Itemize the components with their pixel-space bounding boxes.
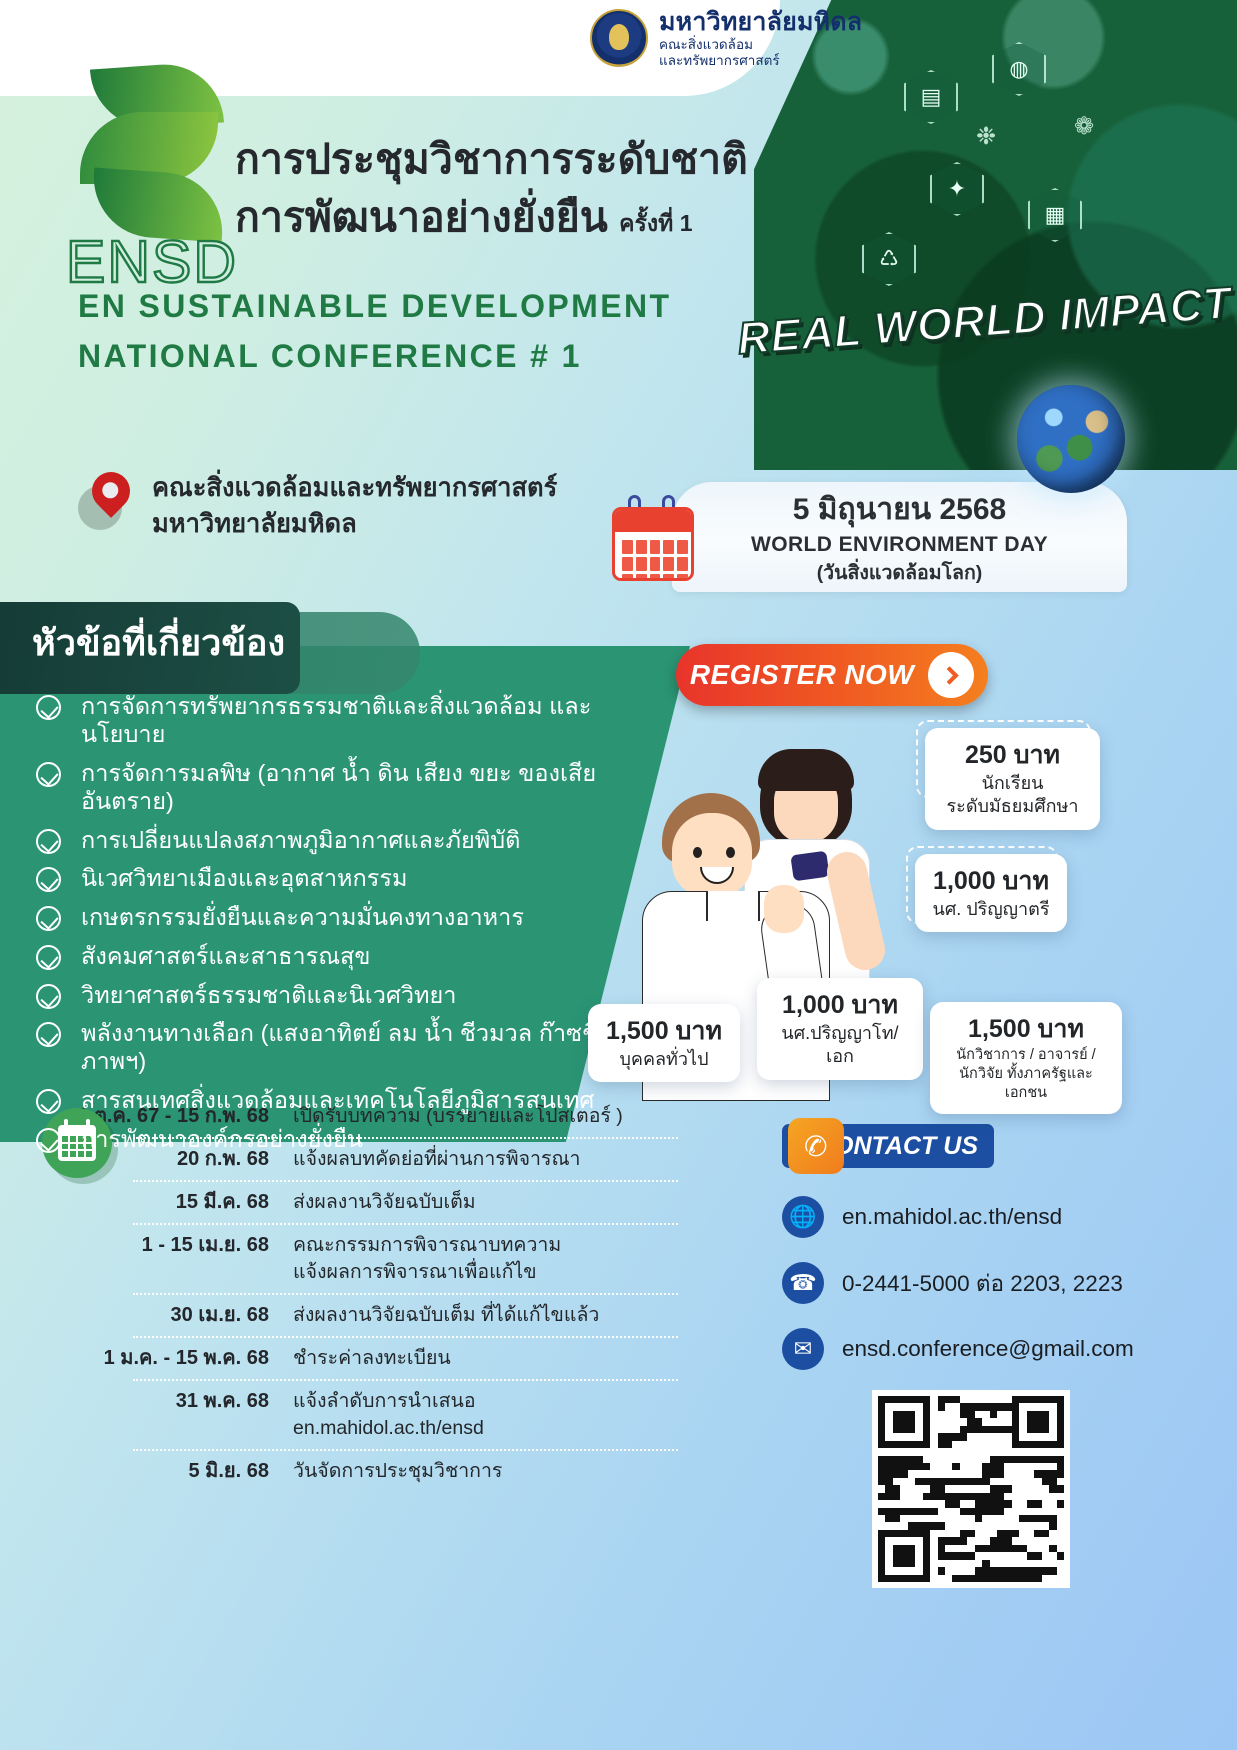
man-hand xyxy=(764,885,804,933)
timeline-separator xyxy=(133,1180,678,1182)
topic-label: สังคมศาสตร์และสาธารณสุข xyxy=(81,942,370,970)
timeline-description-line-1: ชำระค่าลงทะเบียน xyxy=(293,1345,451,1372)
topic-item: การเปลี่ยนแปลงสภาพภูมิอากาศและภัยพิบัติ xyxy=(36,826,656,854)
price-card-bachelor: 1,000 บาท นศ. ปริญญาตรี xyxy=(915,854,1067,932)
check-circle-icon xyxy=(36,945,61,970)
topics-list: การจัดการทรัพยากรธรรมชาติและสิ่งแวดล้อม … xyxy=(36,692,656,1163)
contact-telephone-value: 0-2441-5000 ต่อ 2203, 2223 xyxy=(842,1265,1123,1301)
register-button-label: REGISTER NOW xyxy=(690,659,914,691)
price-amount: 1,000 บาท xyxy=(931,865,1051,898)
title-th-line-1: การประชุมวิชาการระดับชาติ xyxy=(235,130,748,188)
price-amount: 1,500 บาท xyxy=(946,1013,1106,1046)
timeline-separator xyxy=(133,1223,678,1225)
topic-label: การจัดการมลพิษ (อากาศ น้ำ ดิน เสียง ขยะ … xyxy=(81,759,656,815)
price-amount: 1,000 บาท xyxy=(773,989,907,1022)
check-circle-icon xyxy=(36,1128,61,1153)
timeline-description: คณะกรรมการพิจารณาบทความแจ้งผลการพิจารณาเ… xyxy=(293,1232,561,1286)
timeline-row: 31 พ.ค. 68แจ้งลำดับการนำเสนอen.mahidol.a… xyxy=(38,1381,708,1449)
envelope-icon: ✉ xyxy=(782,1328,824,1370)
title-edition: ครั้งที่ 1 xyxy=(619,210,692,236)
check-circle-icon xyxy=(36,1022,61,1047)
timeline-description-line-2: แจ้งผลการพิจารณาเพื่อแก้ไข xyxy=(293,1259,561,1286)
event-date-th-note: (วันสิ่งแวดล้อมโลก) xyxy=(817,557,983,588)
venue-line-2: มหาวิทยาลัยมหิดล xyxy=(152,506,557,542)
topic-item: การจัดการมลพิษ (อากาศ น้ำ ดิน เสียง ขยะ … xyxy=(36,759,656,815)
contact-website-value: en.mahidol.ac.th/ensd xyxy=(842,1204,1062,1230)
contact-telephone[interactable]: ☎ 0-2441-5000 ต่อ 2203, 2223 xyxy=(782,1262,1123,1304)
timeline-description: แจ้งลำดับการนำเสนอen.mahidol.ac.th/ensd xyxy=(293,1388,484,1442)
title-en-line-1: EN SUSTAINABLE DEVELOPMENT xyxy=(78,282,671,332)
timeline-description-line-1: แจ้งลำดับการนำเสนอ xyxy=(293,1388,484,1415)
contact-website[interactable]: 🌐 en.mahidol.ac.th/ensd xyxy=(782,1196,1062,1238)
topic-item: สารสนเทศสิ่งแวดล้อมและเทคโนโลยีภูมิสารสน… xyxy=(36,1086,656,1114)
timeline-description-line-2: en.mahidol.ac.th/ensd xyxy=(293,1415,484,1442)
price-desc-1: นักวิชาการ / อาจารย์ / xyxy=(946,1046,1106,1065)
topic-label: วิทยาศาสตร์ธรรมชาติและนิเวศวิทยา xyxy=(81,981,457,1009)
check-circle-icon xyxy=(36,1089,61,1114)
timeline-description: ส่งผลงานวิจัยฉบับเต็ม ที่ได้แก้ไขแล้ว xyxy=(293,1302,599,1329)
man-eye-right xyxy=(726,847,735,858)
man-eye-left xyxy=(693,847,702,858)
timeline-description-line-1: วันจัดการประชุมวิชาการ xyxy=(293,1458,502,1485)
faculty-line-1: คณะสิ่งแวดล้อม xyxy=(659,37,862,53)
timeline-description: ส่งผลงานวิจัยฉบับเต็ม xyxy=(293,1189,476,1216)
timeline-separator xyxy=(133,1336,678,1338)
timeline-description-line-1: คณะกรรมการพิจารณาบทความ xyxy=(293,1232,561,1259)
title-th-line-2: การพัฒนาอย่างยั่งยืน ครั้งที่ 1 xyxy=(235,188,748,246)
price-desc-1: บุคคลทั่วไป xyxy=(604,1048,724,1072)
check-circle-icon xyxy=(36,984,61,1009)
timeline-date: 5 มิ.ย. 68 xyxy=(38,1458,293,1485)
topic-item: สังคมศาสตร์และสาธารณสุข xyxy=(36,942,656,970)
price-card-academic: 1,500 บาท นักวิชาการ / อาจารย์ / นักวิจั… xyxy=(930,1002,1122,1114)
university-branding: มหาวิทยาลัยมหิดล คณะสิ่งแวดล้อม และทรัพย… xyxy=(590,8,862,68)
globe-icon: 🌐 xyxy=(782,1196,824,1238)
map-pin-icon xyxy=(78,470,134,532)
topic-label: เกษตรกรรมยั่งยืนและความมั่นคงทางอาหาร xyxy=(81,903,524,931)
drop-dot-icon: ❁ xyxy=(1074,112,1094,141)
calendar-icon xyxy=(612,495,694,581)
price-card-student-highschool: 250 บาท นักเรียน ระดับมัธยมศึกษา xyxy=(925,728,1100,830)
venue-text: คณะสิ่งแวดล้อมและทรัพยากรศาสตร์ มหาวิทยา… xyxy=(152,470,557,542)
university-name: มหาวิทยาลัยมหิดล xyxy=(659,8,862,37)
timeline-date: 31 พ.ค. 68 xyxy=(38,1388,293,1415)
timeline-date: 1 - 15 เม.ย. 68 xyxy=(38,1232,293,1259)
qr-code-icon[interactable] xyxy=(872,1390,1070,1588)
price-amount: 250 บาท xyxy=(941,739,1084,772)
timeline-row: 5 มิ.ย. 68วันจัดการประชุมวิชาการ xyxy=(38,1451,708,1492)
page-title: การประชุมวิชาการระดับชาติ การพัฒนาอย่างย… xyxy=(235,130,748,246)
topic-item: วิทยาศาสตร์ธรรมชาติและนิเวศวิทยา xyxy=(36,981,656,1009)
price-desc-1: นักเรียน xyxy=(941,772,1084,796)
price-desc-1: นศ. ปริญญาตรี xyxy=(931,898,1051,922)
timeline-description-line-1: ส่งผลงานวิจัยฉบับเต็ม xyxy=(293,1189,476,1216)
topic-label: พลังงานทางเลือก (แสงอาทิตย์ ลม น้ำ ชีวมว… xyxy=(81,1019,656,1075)
timeline-date: 15 มี.ค. 68 xyxy=(38,1189,293,1216)
price-desc-1: นศ.ปริญญาโท/เอก xyxy=(773,1022,907,1070)
price-desc-2: ระดับมัธยมศึกษา xyxy=(941,795,1084,819)
timeline-date: 1 ม.ค. - 15 พ.ค. 68 xyxy=(38,1345,293,1372)
check-circle-icon xyxy=(36,906,61,931)
subtitle-en: EN SUSTAINABLE DEVELOPMENT NATIONAL CONF… xyxy=(78,282,671,381)
topic-item: เกษตรกรรมยั่งยืนและความมั่นคงทางอาหาร xyxy=(36,903,656,931)
topics-heading: หัวข้อที่เกี่ยวข้อง xyxy=(32,614,285,671)
earth-globe-icon xyxy=(1017,385,1125,493)
contact-email-value: ensd.conference@gmail.com xyxy=(842,1336,1134,1362)
faculty-line-2: และทรัพยากรศาสตร์ xyxy=(659,53,862,69)
woman-ribbon xyxy=(790,851,829,882)
phone-badge-icon: ✆ xyxy=(788,1118,844,1174)
timeline-description-line-1: ส่งผลงานวิจัยฉบับเต็ม ที่ได้แก้ไขแล้ว xyxy=(293,1302,599,1329)
timeline-separator xyxy=(133,1449,678,1451)
telephone-icon: ☎ xyxy=(782,1262,824,1304)
check-circle-icon xyxy=(36,695,61,720)
university-text: มหาวิทยาลัยมหิดล คณะสิ่งแวดล้อม และทรัพย… xyxy=(659,8,862,68)
man-face xyxy=(672,813,752,897)
timeline-row: 1 ม.ค. - 15 พ.ค. 68ชำระค่าลงทะเบียน xyxy=(38,1338,708,1379)
topic-item: การพัฒนาองค์กรอย่างยั่งยืน xyxy=(36,1125,656,1153)
register-button[interactable]: REGISTER NOW xyxy=(676,644,988,706)
price-card-general-public: 1,500 บาท บุคคลทั่วไป xyxy=(588,1004,740,1082)
check-circle-icon xyxy=(36,762,61,787)
topic-label: การพัฒนาองค์กรอย่างยั่งยืน xyxy=(81,1125,363,1153)
timeline-row: 30 เม.ย. 68ส่งผลงานวิจัยฉบับเต็ม ที่ได้แ… xyxy=(38,1295,708,1336)
topic-label: การเปลี่ยนแปลงสภาพภูมิอากาศและภัยพิบัติ xyxy=(81,826,520,854)
leaf-dot-icon: ❉ xyxy=(976,122,996,151)
topic-item: การจัดการทรัพยากรธรรมชาติและสิ่งแวดล้อม … xyxy=(36,692,656,748)
venue-block: คณะสิ่งแวดล้อมและทรัพยากรศาสตร์ มหาวิทยา… xyxy=(78,470,557,542)
event-date-en: WORLD ENVIRONMENT DAY xyxy=(751,533,1048,557)
timeline-row: 15 มี.ค. 68ส่งผลงานวิจัยฉบับเต็ม xyxy=(38,1182,708,1223)
venue-line-1: คณะสิ่งแวดล้อมและทรัพยากรศาสตร์ xyxy=(152,470,557,506)
topic-item: พลังงานทางเลือก (แสงอาทิตย์ ลม น้ำ ชีวมว… xyxy=(36,1019,656,1075)
topic-label: สารสนเทศสิ่งแวดล้อมและเทคโนโลยีภูมิสารสน… xyxy=(81,1086,594,1114)
topic-label: นิเวศวิทยาเมืองและอุตสาหกรรม xyxy=(81,864,408,892)
price-desc-2: นักวิจัย ทั้งภาครัฐและเอกชน xyxy=(946,1065,1106,1103)
price-card-graduate: 1,000 บาท นศ.ปริญญาโท/เอก xyxy=(757,978,923,1080)
topic-label: การจัดการทรัพยากรธรรมชาติและสิ่งแวดล้อม … xyxy=(81,692,656,748)
event-date: 5 มิถุนายน 2568 xyxy=(793,486,1006,533)
contact-email[interactable]: ✉ ensd.conference@gmail.com xyxy=(782,1328,1134,1370)
title-th-line-2-text: การพัฒนาอย่างยั่งยืน xyxy=(235,194,608,240)
forest-hero-image: ▤ ◍ ✦ ▦ ♺ ❉ ❁ xyxy=(754,0,1237,470)
timeline-separator xyxy=(133,1379,678,1381)
timeline-description: ชำระค่าลงทะเบียน xyxy=(293,1345,451,1372)
timeline-description: วันจัดการประชุมวิชาการ xyxy=(293,1458,502,1485)
chevron-right-icon xyxy=(928,652,974,698)
check-circle-icon xyxy=(36,867,61,892)
timeline-date: 30 เม.ย. 68 xyxy=(38,1302,293,1329)
price-amount: 1,500 บาท xyxy=(604,1015,724,1048)
mahidol-seal-icon xyxy=(590,9,648,67)
woman-fringe xyxy=(758,749,854,791)
event-date-card: 5 มิถุนายน 2568 WORLD ENVIRONMENT DAY (ว… xyxy=(672,482,1127,592)
timeline-row: 1 - 15 เม.ย. 68คณะกรรมการพิจารณาบทความแจ… xyxy=(38,1225,708,1293)
title-en-line-2: NATIONAL CONFERENCE # 1 xyxy=(78,332,671,382)
check-circle-icon xyxy=(36,829,61,854)
man-collar xyxy=(706,891,760,921)
timeline-separator xyxy=(133,1293,678,1295)
topic-item: นิเวศวิทยาเมืองและอุตสาหกรรม xyxy=(36,864,656,892)
ensd-logo: ENSD xyxy=(70,60,235,275)
